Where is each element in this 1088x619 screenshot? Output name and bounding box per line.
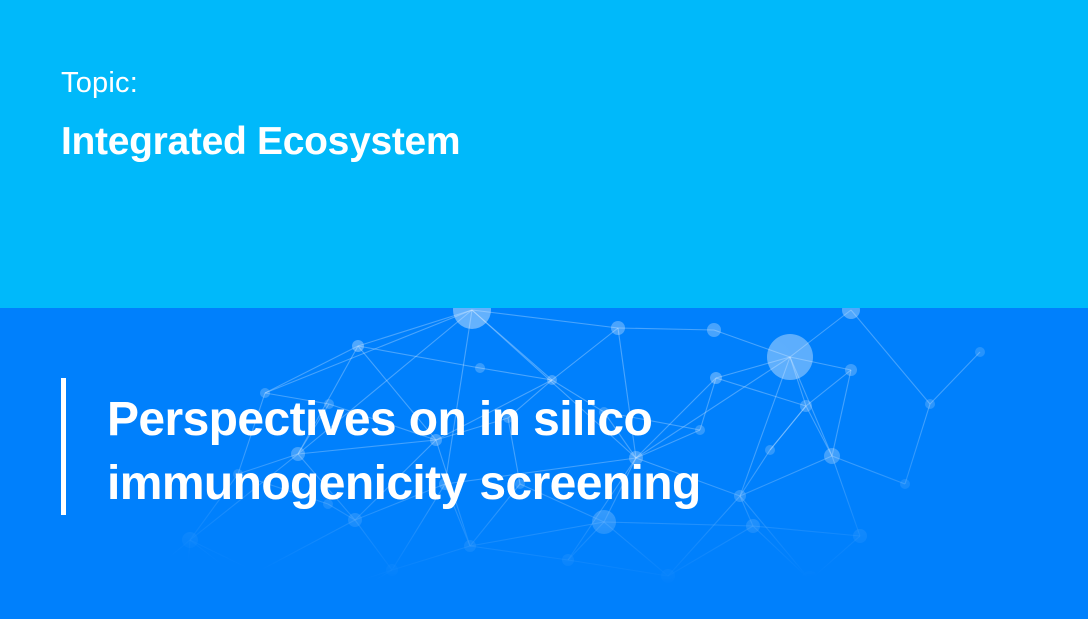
topic-label: Topic: <box>61 66 138 101</box>
main-title-line-1: Perspectives on in silico <box>107 388 701 452</box>
main-title-line-2: immunogenicity screening <box>107 452 701 516</box>
slide-root: Perspectives on in silico immunogenicity… <box>0 0 1088 619</box>
main-title: Perspectives on in silico immunogenicity… <box>107 388 701 516</box>
title-band: Perspectives on in silico immunogenicity… <box>0 308 1088 619</box>
title-accent-bar <box>61 378 66 515</box>
topic-band: Topic: Integrated Ecosystem <box>0 0 1088 308</box>
topic-value: Integrated Ecosystem <box>61 119 460 166</box>
